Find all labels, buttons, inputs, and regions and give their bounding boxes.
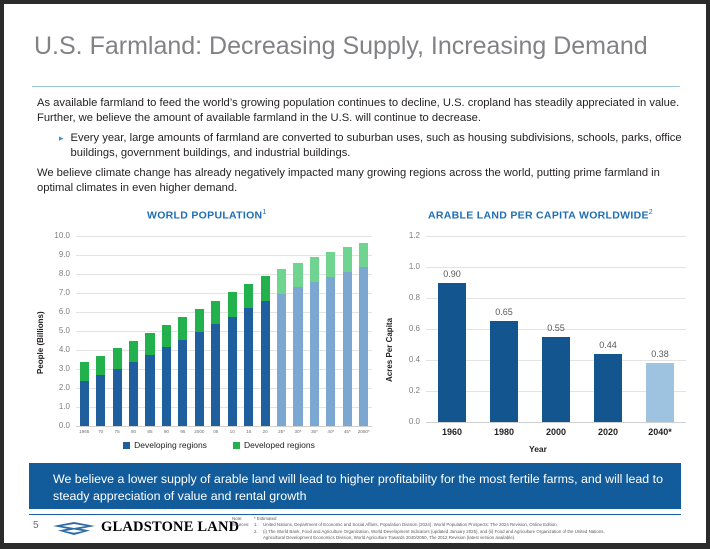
bar-segment-developed [261, 276, 270, 301]
bar-value-label: 0.55 [530, 323, 582, 333]
bar-segment-developing [359, 267, 368, 426]
footnotes: Note: * Estimated Sources: 1. United Nat… [232, 516, 684, 542]
legend-item-developing: Developing regions [123, 440, 207, 450]
chart-title-arable-land: ARABLE LAND PER CAPITA WORLDWIDE2 [428, 209, 653, 222]
footer-divider [29, 514, 681, 515]
y-axis-tick: 0.0 [396, 417, 420, 426]
bar-segment-developing [129, 362, 138, 426]
bar-segment-developing [145, 355, 154, 426]
bullet-arrow-icon: ▸ [59, 131, 64, 162]
bar-segment-developed [129, 341, 138, 362]
legend-label-developed: Developed regions [244, 440, 315, 450]
y-axis-tick: 5.0 [42, 326, 70, 335]
y-axis-tick: 7.0 [42, 288, 70, 297]
bar-segment-developing [195, 332, 204, 426]
bullet-item-1: ▸ Every year, large amounts of farmland … [59, 131, 685, 162]
bar-segment-developed [195, 309, 204, 332]
chart-title-superscript-2: 2 [649, 209, 653, 216]
bar-value-label: 0.65 [478, 307, 530, 317]
bar-segment-developed [343, 247, 352, 272]
bar [594, 354, 621, 422]
y-axis-tick: 1.2 [396, 231, 420, 240]
gridline [426, 236, 686, 237]
sources-spacer [232, 529, 254, 535]
bullet-item-1-text: Every year, large amounts of farmland ar… [71, 131, 685, 162]
bottom-edge [4, 543, 706, 545]
bar-segment-developed [277, 269, 286, 294]
gladstone-diamond-logo-icon [52, 521, 96, 537]
bar-segment-developed [113, 348, 122, 368]
y-axis-tick: 6.0 [42, 307, 70, 316]
bar-segment-developing [178, 340, 187, 426]
x-axis-tick: 2050* [350, 429, 378, 434]
title-divider [32, 86, 680, 87]
y-axis-tick: 2.0 [42, 383, 70, 392]
gridline [76, 236, 372, 237]
chart-title-text: WORLD POPULATION [147, 210, 262, 222]
bar-segment-developing [261, 301, 270, 426]
y-axis-tick: 8.0 [42, 269, 70, 278]
y-axis-tick: 0.0 [42, 421, 70, 430]
bar [542, 337, 569, 422]
y-axis-tick: 3.0 [42, 364, 70, 373]
chart-title-world-population: WORLD POPULATION1 [147, 209, 267, 222]
y-axis-tick: 9.0 [42, 250, 70, 259]
y-axis-label-right-chart: Acres Per Capita [385, 318, 394, 382]
summary-banner: We believe a lower supply of arable land… [29, 463, 681, 509]
legend-label-developing: Developing regions [134, 440, 207, 450]
bar [438, 283, 465, 423]
legend-item-developed: Developed regions [233, 440, 315, 450]
source-2-number: 2. [254, 529, 263, 535]
source-2-text-line2: Agricultural Development Economics Divis… [263, 535, 684, 541]
bar [646, 363, 673, 422]
bar-segment-developed [145, 333, 154, 354]
y-axis-tick: 0.8 [396, 293, 420, 302]
bar-segment-developing [310, 282, 319, 426]
chart-legend: Developing regions Developed regions [79, 440, 359, 450]
bar-segment-developing [113, 369, 122, 426]
bar-segment-developed [211, 301, 220, 325]
bar [490, 321, 517, 422]
bar-segment-developing [326, 277, 335, 426]
y-axis-tick: 1.0 [396, 262, 420, 271]
bar-segment-developed [80, 362, 89, 381]
chart-world-population: 0.01.02.03.04.05.06.07.08.09.010.0196570… [42, 232, 372, 442]
bar-segment-developing [343, 272, 352, 426]
bar-segment-developing [228, 317, 237, 426]
bar-segment-developed [162, 325, 171, 347]
source-2-row-cont: Agricultural Development Economics Divis… [263, 535, 684, 541]
bar-segment-developing [80, 381, 89, 426]
bar-segment-developed [326, 252, 335, 277]
body-copy: As available farmland to feed the world’… [37, 96, 685, 200]
x-axis-tick: 2040* [628, 427, 692, 437]
bar-value-label: 0.38 [634, 349, 686, 359]
paragraph-2: We believe climate change has already ne… [37, 166, 685, 197]
page-title: U.S. Farmland: Decreasing Supply, Increa… [34, 32, 648, 61]
bar-segment-developed [293, 263, 302, 288]
y-axis-tick: 0.2 [396, 386, 420, 395]
bar-segment-developing [96, 375, 105, 426]
company-name: GLADSTONE LAND [101, 519, 239, 536]
bar-value-label: 0.90 [426, 269, 478, 279]
bar-segment-developed [244, 284, 253, 309]
y-axis-tick: 0.4 [396, 355, 420, 364]
bar-segment-developed [228, 292, 237, 316]
bar-segment-developing [244, 308, 253, 426]
y-axis-tick: 1.0 [42, 402, 70, 411]
gridline [76, 426, 372, 427]
chart-title-superscript: 1 [262, 209, 266, 216]
page-number: 5 [33, 520, 39, 531]
y-axis-tick: 4.0 [42, 345, 70, 354]
bar-segment-developing [162, 347, 171, 426]
paragraph-1: As available farmland to feed the world’… [37, 96, 685, 127]
chart-arable-land: 0.00.20.40.60.81.01.20.9019600.6519800.5… [396, 232, 686, 442]
summary-banner-text: We believe a lower supply of arable land… [53, 471, 663, 505]
gridline [426, 422, 686, 423]
x-axis-label-right-chart: Year [529, 444, 547, 454]
legend-swatch-developed [233, 442, 240, 449]
bar-segment-developing [211, 324, 220, 426]
chart-title-text-2: ARABLE LAND PER CAPITA WORLDWIDE [428, 210, 649, 222]
bar-segment-developed [96, 356, 105, 375]
slide: U.S. Farmland: Decreasing Supply, Increa… [4, 4, 706, 545]
bar-segment-developed [178, 317, 187, 340]
y-axis-tick: 10.0 [42, 231, 70, 240]
legend-swatch-developing [123, 442, 130, 449]
bar-segment-developed [359, 243, 368, 268]
bar-segment-developing [293, 287, 302, 426]
y-axis-tick: 0.6 [396, 324, 420, 333]
bar-segment-developing [277, 294, 286, 426]
bar-segment-developed [310, 257, 319, 282]
bar-value-label: 0.44 [582, 340, 634, 350]
